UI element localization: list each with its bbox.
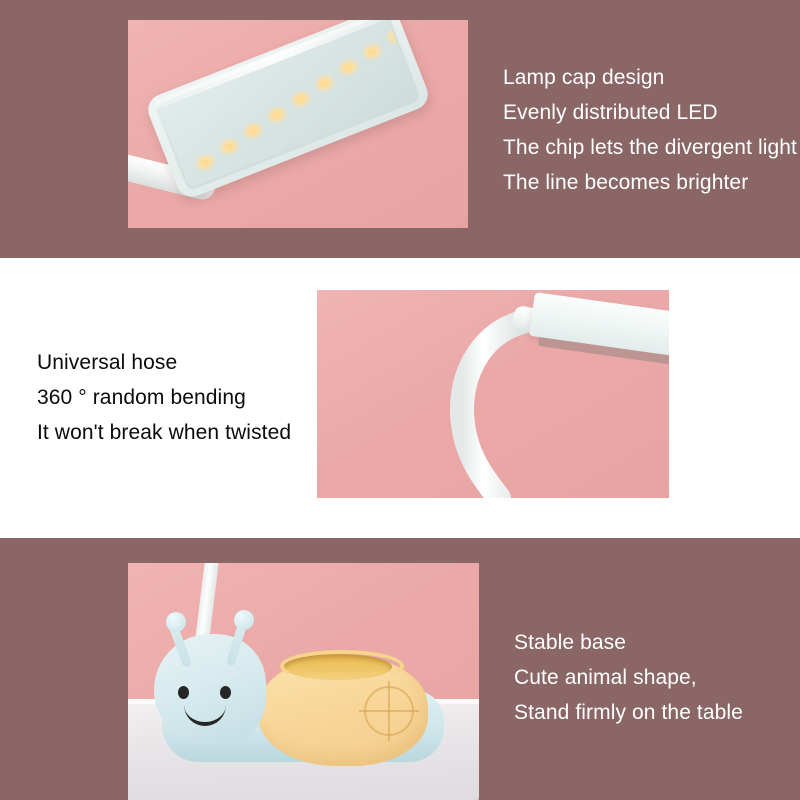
- snail-eye-left: [178, 686, 189, 699]
- lamp-head-photo: [128, 20, 468, 228]
- feature-line: The line becomes brighter: [503, 165, 797, 200]
- feature-line: It won't break when twisted: [37, 415, 291, 450]
- led-dot: [312, 72, 336, 94]
- feature-line: The chip lets the divergent light: [503, 130, 797, 165]
- feature-line: Stand firmly on the table: [514, 695, 743, 730]
- infographic-page: Lamp cap design Evenly distributed LED T…: [0, 0, 800, 800]
- led-dot: [336, 56, 360, 78]
- gooseneck-hose-photo: [317, 290, 669, 498]
- feature-text-universal-hose: Universal hose 360 ° random bending It w…: [37, 345, 291, 450]
- feature-line: 360 ° random bending: [37, 380, 291, 415]
- snail-shell-pen-holder: [258, 656, 428, 766]
- led-dot: [193, 151, 217, 173]
- led-dot: [384, 25, 408, 47]
- feature-line: Lamp cap design: [503, 60, 797, 95]
- hose-assembly: [317, 290, 669, 498]
- lamp-head-bezel: [154, 20, 423, 192]
- led-dot: [360, 40, 384, 62]
- feature-text-stable-base: Stable base Cute animal shape, Stand fir…: [514, 625, 743, 730]
- lamp-head-assembly: [128, 20, 468, 228]
- snail-head: [154, 634, 266, 746]
- snail-body: [154, 618, 444, 758]
- snail-base-photo: [128, 563, 479, 800]
- led-dot: [217, 136, 241, 158]
- led-dot: [289, 88, 313, 110]
- lamp-head-shell: [144, 20, 433, 201]
- shell-crosshair-emblem: [364, 686, 414, 736]
- led-dot: [241, 120, 265, 142]
- feature-text-lamp-cap: Lamp cap design Evenly distributed LED T…: [503, 60, 797, 200]
- lamp-diffuser-panel: [157, 20, 418, 188]
- feature-line: Evenly distributed LED: [503, 95, 797, 130]
- feature-line: Stable base: [514, 625, 743, 660]
- led-dot: [265, 104, 289, 126]
- snail-smile: [184, 700, 226, 726]
- antenna-left-ball: [166, 612, 186, 632]
- antenna-right-ball: [234, 610, 254, 630]
- feature-line: Universal hose: [37, 345, 291, 380]
- feature-line: Cute animal shape,: [514, 660, 743, 695]
- snail-lamp-assembly: [128, 563, 479, 800]
- emblem-horizontal-line: [359, 710, 419, 712]
- shell-opening-rim: [280, 650, 404, 682]
- snail-eye-right: [220, 686, 231, 699]
